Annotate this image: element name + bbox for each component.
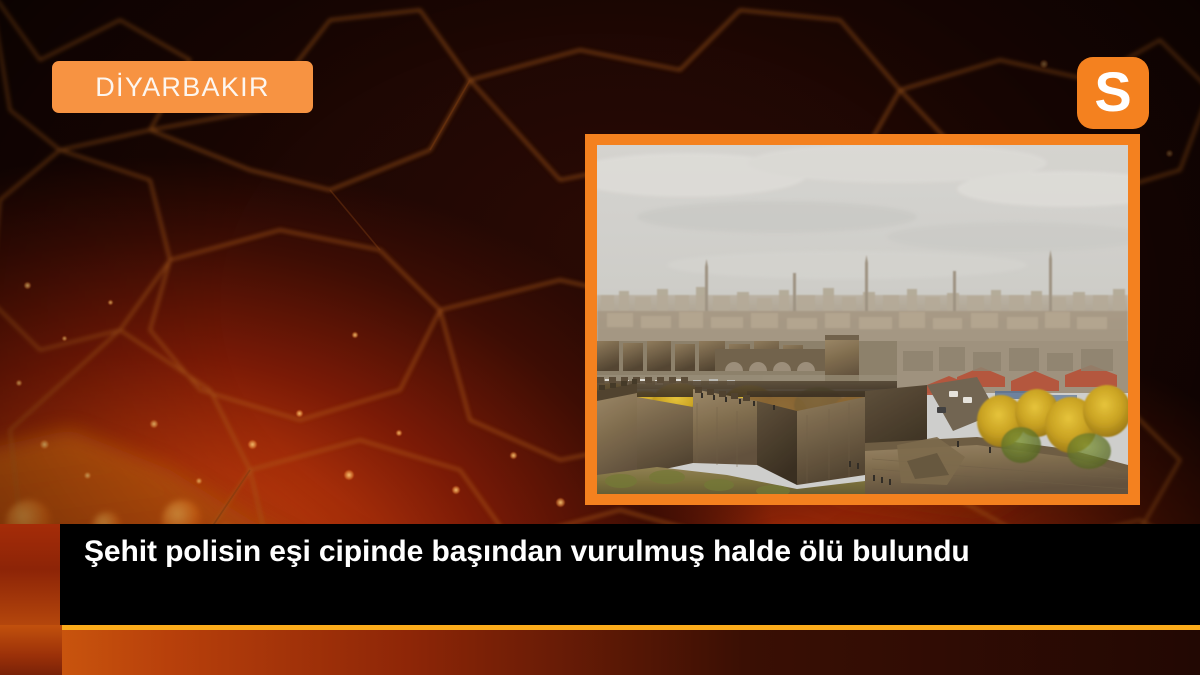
headline-left-strip	[0, 524, 60, 625]
bottom-band-left-accent	[0, 625, 62, 675]
photo-card	[585, 134, 1140, 505]
location-badge-label: DİYARBAKIR	[95, 74, 270, 101]
headline-panel: Şehit polisin eşi cipinde başından vurul…	[60, 524, 1200, 625]
news-photo	[597, 145, 1128, 494]
site-logo[interactable]: S	[1077, 57, 1149, 129]
location-badge: DİYARBAKIR	[52, 61, 313, 113]
news-card-canvas: DİYARBAKIR S	[0, 0, 1200, 675]
bottom-band	[0, 630, 1200, 675]
headline-text: Şehit polisin eşi cipinde başından vurul…	[84, 534, 1176, 571]
site-logo-letter: S	[1094, 64, 1131, 120]
gold-accent-rule	[62, 625, 1200, 630]
